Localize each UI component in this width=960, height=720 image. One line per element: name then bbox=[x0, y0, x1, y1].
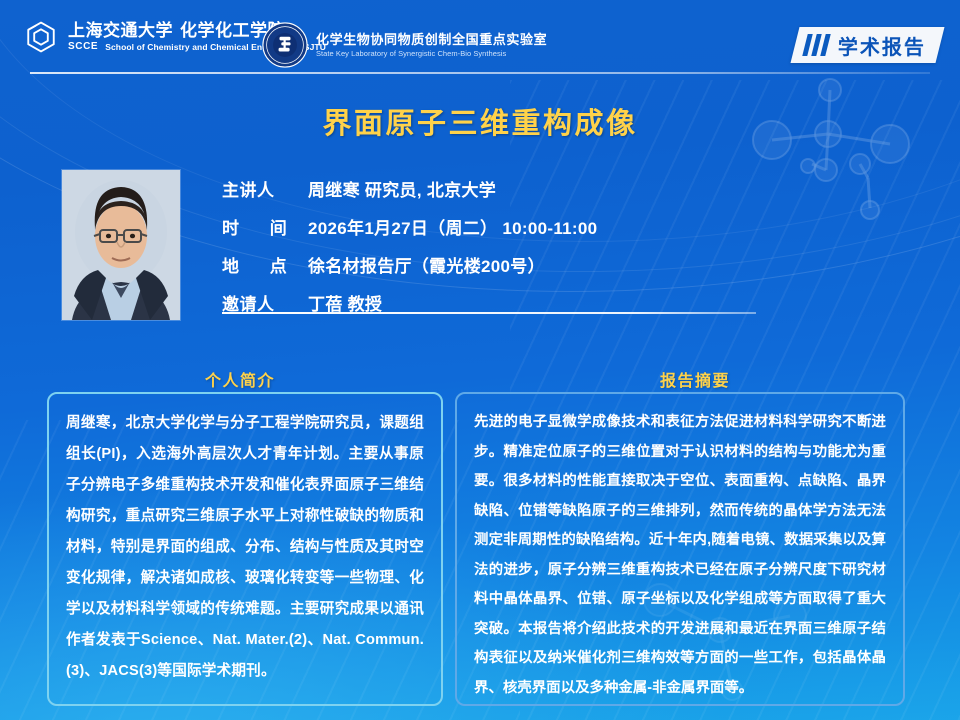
bio-panel: 周继寒，北京大学化学与分子工程学院研究员，课题组组长(PI)，入选海外高层次人才… bbox=[47, 392, 443, 706]
abstract-heading: 报告摘要 bbox=[660, 367, 730, 391]
bio-text: 周继寒，北京大学化学与分子工程学院研究员，课题组组长(PI)，入选海外高层次人才… bbox=[49, 394, 441, 704]
info-label-time: 时 间 bbox=[222, 214, 308, 239]
header-divider bbox=[30, 72, 930, 74]
info-value-venue: 徐名材报告厅（霞光楼200号） bbox=[308, 252, 545, 277]
lab-name-en: State Key Laboratory of Synergistic Chem… bbox=[316, 49, 547, 58]
speaker-photo bbox=[62, 170, 180, 320]
info-value-time: 2026年1月27日（周二） 10:00-11:00 bbox=[308, 214, 597, 239]
info-row-venue: 地 点 徐名材报告厅（霞光楼200号） bbox=[222, 252, 762, 277]
abstract-panel: 先进的电子显微学成像技术和表征方法促进材料科学研究不断进步。精准定位原子的三维位… bbox=[455, 392, 905, 706]
info-value-speaker: 周继寒 研究员, 北京大学 bbox=[308, 176, 496, 201]
event-info: 主讲人 周继寒 研究员, 北京大学 时 间 2026年1月27日（周二） 10:… bbox=[222, 176, 762, 328]
badge-label: 学术报告 bbox=[838, 31, 926, 60]
poster-header: 上海交通大学 化学化工学院 SCCE School of Chemistry a… bbox=[0, 0, 960, 72]
page-title: 界面原子三维重构成像 bbox=[0, 100, 960, 142]
school-abbreviation: SCCE bbox=[68, 41, 98, 52]
lab-name-cn: 化学生物协同物质创制全国重点实验室 bbox=[316, 32, 547, 48]
speaker-portrait bbox=[62, 170, 180, 320]
poster-canvas: 上海交通大学 化学化工学院 SCCE School of Chemistry a… bbox=[0, 0, 960, 720]
info-row-time: 时 间 2026年1月27日（周二） 10:00-11:00 bbox=[222, 214, 762, 239]
academic-report-badge: 学术报告 bbox=[791, 27, 945, 63]
bio-heading: 个人简介 bbox=[205, 367, 275, 391]
state-key-lab-seal-icon bbox=[262, 22, 308, 68]
triple-slash-icon bbox=[802, 34, 830, 56]
info-label-speaker: 主讲人 bbox=[222, 176, 308, 201]
info-row-speaker: 主讲人 周继寒 研究员, 北京大学 bbox=[222, 176, 762, 201]
university-name-cn: 上海交通大学 bbox=[68, 22, 173, 40]
lab-branding: 化学生物协同物质创制全国重点实验室 State Key Laboratory o… bbox=[262, 22, 547, 68]
info-label-venue: 地 点 bbox=[222, 252, 308, 277]
hexagon-spiral-icon bbox=[24, 20, 58, 54]
abstract-text: 先进的电子显微学成像技术和表征方法促进材料科学研究不断进步。精准定位原子的三维位… bbox=[457, 394, 903, 704]
info-divider bbox=[222, 312, 756, 314]
